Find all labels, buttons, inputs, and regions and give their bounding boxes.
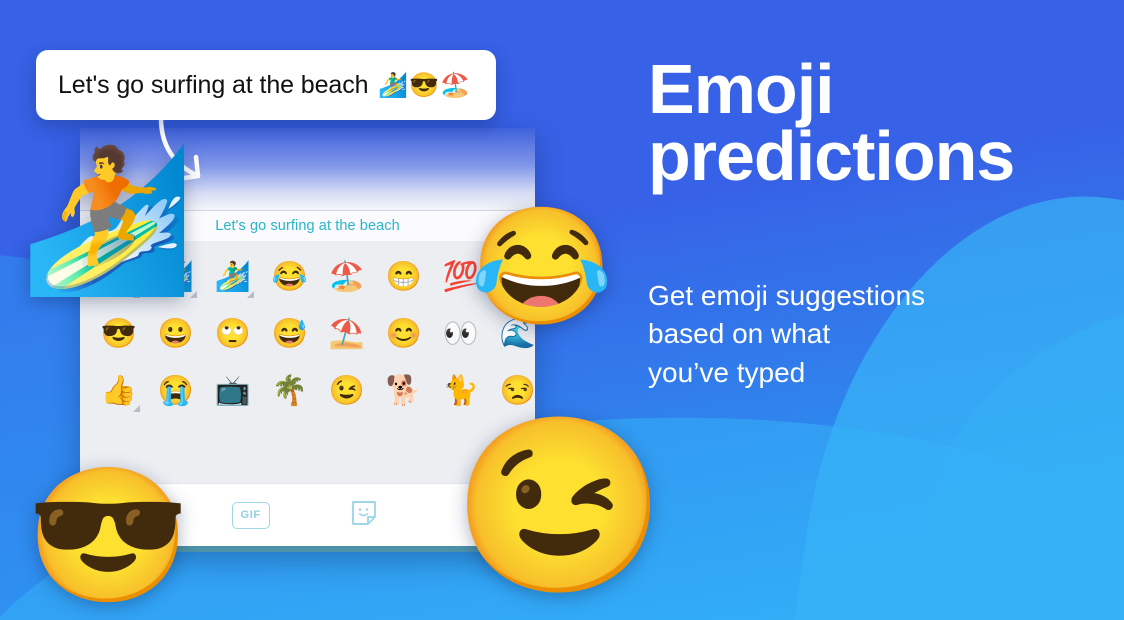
- subtitle: Get emoji suggestions based on what you’…: [648, 277, 1078, 392]
- gif-icon: GIF: [232, 502, 270, 529]
- emoji-key-palm-tree[interactable]: 🌴: [261, 363, 318, 420]
- gif-tab[interactable]: GIF: [194, 502, 308, 529]
- page-title: Emoji predictions: [648, 56, 1078, 190]
- emoji-row: 😎 😀 🙄 😅 ⛱️ 😊 👀 🌊: [90, 306, 525, 363]
- subtitle-line-2: based on what: [648, 315, 1078, 353]
- promo-copy: Emoji predictions: [648, 56, 1078, 190]
- emoji-key-loudly-crying[interactable]: 😭: [147, 363, 204, 420]
- emoji-key-rolling-eyes[interactable]: 🙄: [204, 306, 261, 363]
- sticker-tab[interactable]: [308, 498, 422, 533]
- subtitle-line-3: you’ve typed: [648, 354, 1078, 392]
- emoji-key-beach-umbrella[interactable]: 🏖️: [318, 249, 375, 306]
- emoji-key-smiling-eyes[interactable]: 😊: [375, 306, 432, 363]
- face-with-tears-of-joy-large-emoji: 😂: [470, 210, 613, 325]
- promo-banner: Let's go surfing at the beach 🏄 🏄‍♀️ 🏄‍♂…: [0, 0, 1124, 620]
- promo-subcopy: Get emoji suggestions based on what you’…: [648, 277, 1078, 392]
- emoji-key-thumbs-up[interactable]: 👍: [90, 363, 147, 420]
- emoji-key-winking[interactable]: 😉: [318, 363, 375, 420]
- emoji-key-grinning[interactable]: 😀: [147, 306, 204, 363]
- message-bubble-emojis: 🏄‍♂️😎🏖️: [378, 71, 471, 100]
- sticker-icon: [349, 498, 379, 533]
- message-bubble-text: Let's go surfing at the beach: [58, 71, 368, 100]
- smiling-face-with-sunglasses-large-emoji: 😎: [26, 470, 190, 602]
- emoji-key-beaming-face[interactable]: 😁: [375, 249, 432, 306]
- emoji-key-dog[interactable]: 🐕: [375, 363, 432, 420]
- emoji-key-tears-of-joy[interactable]: 😂: [261, 249, 318, 306]
- surfer-large-emoji: 🏄: [20, 150, 194, 290]
- headline-line-2: predictions: [648, 123, 1078, 190]
- message-bubble: Let's go surfing at the beach 🏄‍♂️😎🏖️: [36, 50, 496, 120]
- emoji-key-umbrella-ground[interactable]: ⛱️: [318, 306, 375, 363]
- emoji-key-grin-sweat[interactable]: 😅: [261, 306, 318, 363]
- subtitle-line-1: Get emoji suggestions: [648, 277, 1078, 315]
- emoji-key-television[interactable]: 📺: [204, 363, 261, 420]
- winking-face-large-emoji: 😉: [452, 420, 666, 592]
- suggestion-text: Let's go surfing at the beach: [215, 218, 400, 234]
- emoji-key-sunglasses[interactable]: 😎: [90, 306, 147, 363]
- emoji-key-man-surfing[interactable]: 🏄‍♂️: [204, 249, 261, 306]
